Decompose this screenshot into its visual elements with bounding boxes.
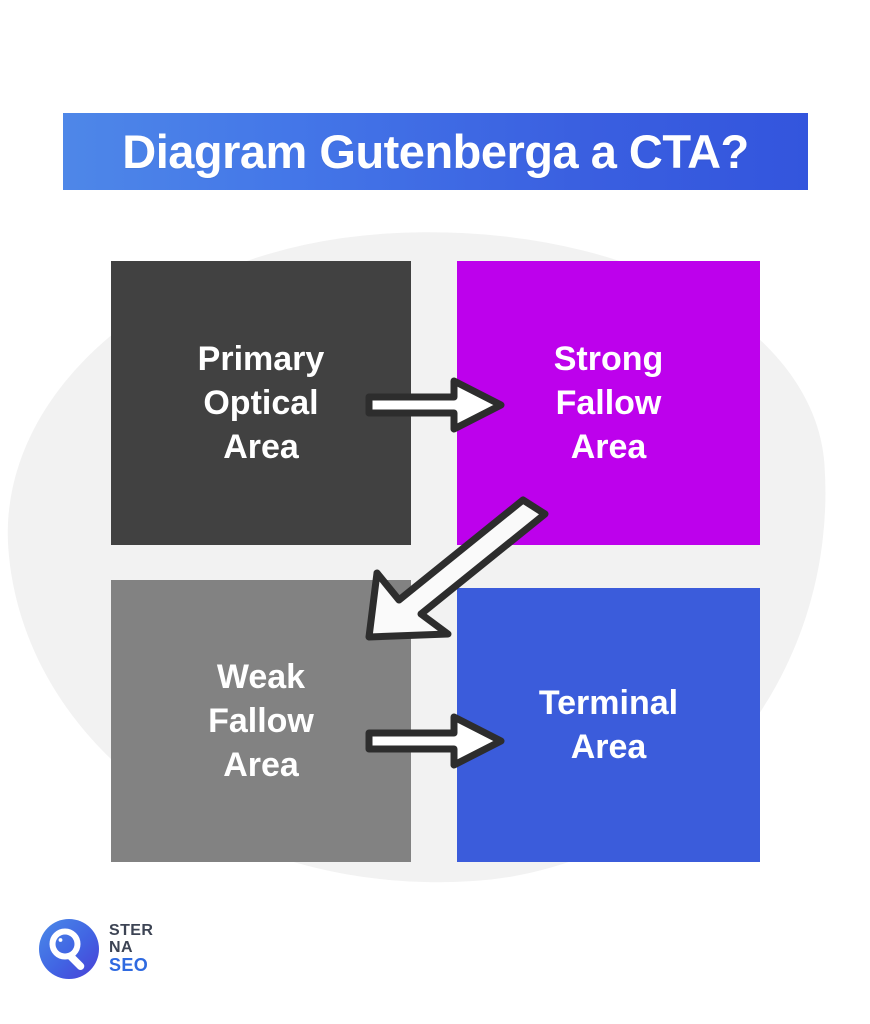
quadrant-strong-fallow-area: Strong Fallow Area	[457, 261, 760, 545]
quadrant-primary-optical-area: Primary Optical Area	[111, 261, 411, 545]
quadrant-label-primary-optical: Primary Optical Area	[198, 337, 325, 470]
page-title: Diagram Gutenberga a CTA?	[122, 128, 748, 175]
title-banner: Diagram Gutenberga a CTA?	[63, 113, 808, 190]
logo-line-2: NA	[109, 940, 153, 957]
magnifier-circle-logo-icon	[38, 918, 100, 980]
infographic-canvas: Diagram Gutenberga a CTA? Primary Optica…	[0, 0, 870, 1024]
quadrant-terminal-area: Terminal Area	[457, 588, 760, 862]
brand-logo[interactable]: STER NA SEO	[38, 918, 153, 980]
quadrant-weak-fallow-area: Weak Fallow Area	[111, 580, 411, 862]
logo-line-3: SEO	[109, 956, 153, 975]
quadrant-label-terminal: Terminal Area	[539, 681, 678, 769]
logo-line-1: STER	[109, 923, 153, 940]
quadrant-label-weak-fallow: Weak Fallow Area	[208, 655, 314, 788]
quadrant-label-strong-fallow: Strong Fallow Area	[554, 337, 664, 470]
brand-logo-wordmark: STER NA SEO	[109, 923, 153, 975]
